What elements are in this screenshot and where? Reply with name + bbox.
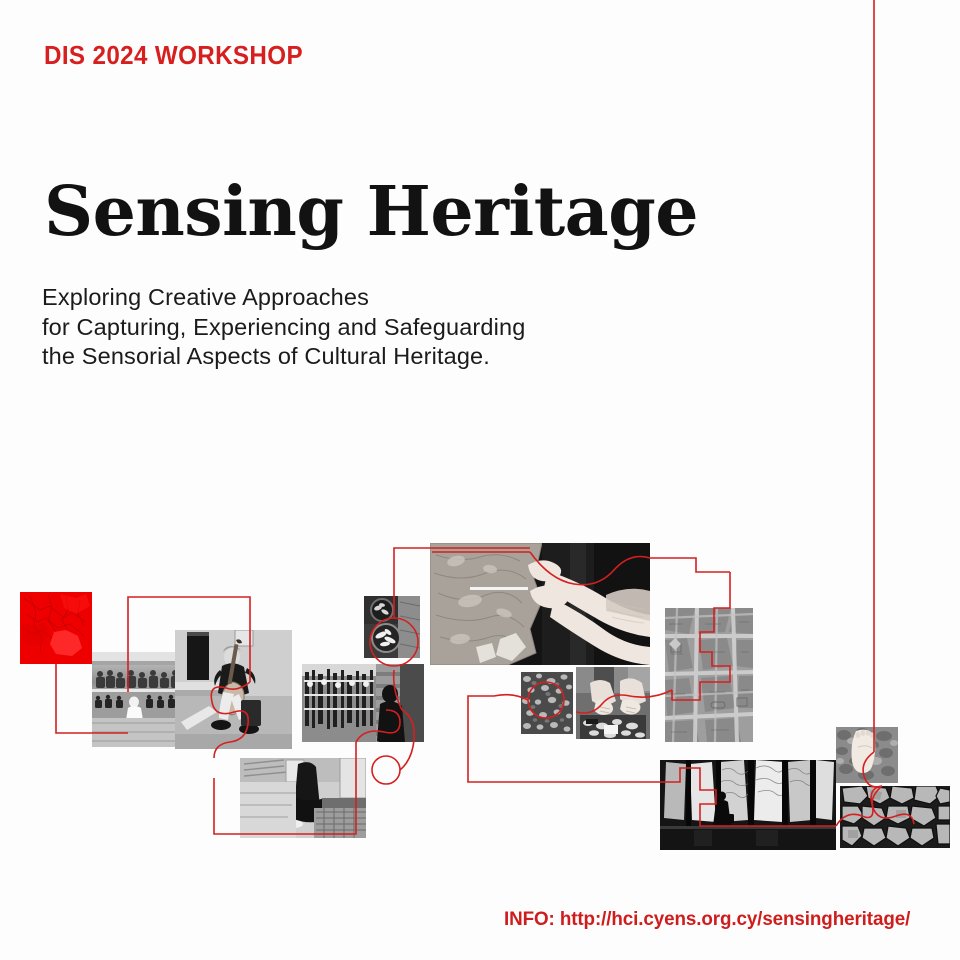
- bare-foot: [852, 730, 876, 773]
- photo-bare-foot-gravel-image: [836, 727, 898, 783]
- info-url[interactable]: INFO: http://hci.cyens.org.cy/sensingher…: [504, 909, 910, 931]
- red-map-swatch: [20, 592, 92, 664]
- photo-collage: [0, 0, 960, 960]
- photo-tool-rack-workshop-image: [302, 664, 424, 742]
- photo-cobblestone-paving-image: [840, 786, 950, 848]
- photo-vintage-street-map-image: [665, 608, 753, 742]
- photo-vintage-street-map: [665, 608, 753, 742]
- photo-crowd-seated-steps-image: [92, 652, 182, 747]
- page-subtitle: Exploring Creative Approaches for Captur…: [42, 283, 525, 372]
- photo-hands-touch-stone-image: [430, 543, 650, 665]
- photo-bare-foot-gravel: [836, 727, 898, 783]
- red-map-texture-icon: [20, 592, 92, 664]
- photo-tool-rack-workshop: [302, 664, 424, 742]
- poster-canvas: DIS 2024 WORKSHOP Sensing Heritage Explo…: [0, 0, 960, 960]
- photo-hands-touch-stone: [430, 543, 650, 665]
- photo-person-on-bench: [240, 758, 366, 838]
- photo-cellist-street: [175, 630, 292, 749]
- photo-hands-sorting-finds: [576, 667, 650, 739]
- photo-cellist-street-image: [175, 630, 292, 749]
- photo-gallery-installation: [660, 760, 836, 850]
- photo-bowls-vessels: [364, 596, 420, 658]
- photo-person-on-bench-image: [240, 758, 366, 838]
- photo-gravel-texture: [521, 672, 573, 734]
- photo-hands-sorting-finds-image: [576, 667, 650, 739]
- photo-cobblestone-paving: [840, 786, 950, 848]
- photo-crowd-seated-steps: [92, 652, 182, 747]
- photo-gravel-texture-image: [521, 672, 573, 734]
- page-title: Sensing Heritage: [44, 178, 698, 246]
- photo-bowls-vessels-image: [364, 596, 420, 658]
- eyebrow-label: DIS 2024 WORKSHOP: [44, 40, 303, 71]
- photo-gallery-installation-image: [660, 760, 836, 850]
